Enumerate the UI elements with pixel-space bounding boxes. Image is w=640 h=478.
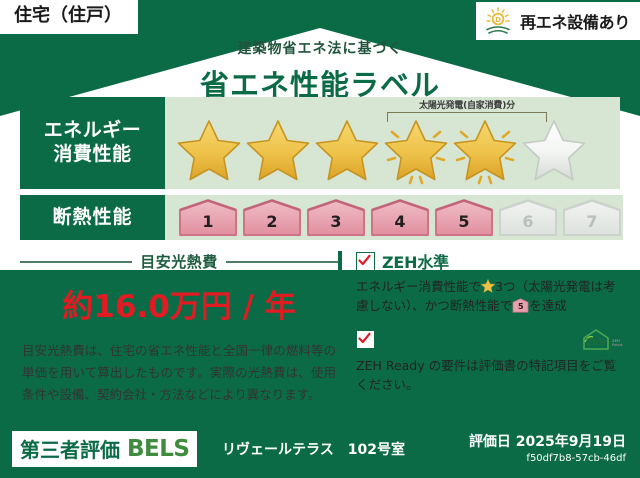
zeh-ready-logo-icon: ZEH ZEH Ready (581, 328, 623, 352)
renewable-energy-label: 再エネ設備あり (520, 9, 630, 33)
building-type-badge: 住宅（住戸） (0, 0, 138, 34)
evaluation-date: 評価日 2025年9月19日 (469, 431, 626, 451)
net-zero-energy-text: ZEH Ready の要件は評価書の特記項目をご覧ください。 (356, 356, 623, 395)
sun-icon: D (484, 7, 514, 35)
checkbox-checked-2 (356, 330, 375, 349)
star-filled (382, 116, 450, 186)
insulation-level-number: 6 (497, 212, 559, 231)
insulation-label: 断熱性能 (52, 206, 132, 230)
bels-badge: 第三者評価 BELS (12, 431, 197, 467)
energy-stars-panel: 太陽光発電(自家消費)分 (165, 97, 620, 189)
insulation-level-number: 3 (305, 212, 367, 231)
label-footer: 第三者評価 BELS リヴェールテラス 102号室 評価日 2025年9月19日… (0, 422, 640, 478)
building-type-label: 住宅（住戸） (14, 5, 122, 26)
zeh-section: ZEH水準 エネルギー消費性能で3つ（太陽光発電は考慮しない）、かつ断熱性能で5… (338, 249, 623, 424)
insulation-level-filled: 3 (305, 199, 367, 237)
insulation-level-scale: 1 2 3 (165, 195, 623, 240)
zeh-text-part-a: エネルギー消費性能で (356, 279, 481, 294)
insulation-level-filled: 1 (177, 199, 239, 237)
star-filled (244, 116, 312, 186)
heading-rule-left (20, 261, 132, 263)
energy-label-line1: エネルギー (44, 119, 142, 143)
section-divider (338, 251, 342, 411)
insulation-level-filled: 2 (241, 199, 303, 237)
insulation-levels-panel: 1 2 3 (165, 195, 623, 240)
mini-house-badge: 5 (512, 298, 529, 313)
star-filled (313, 116, 381, 186)
insulation-level-number: 1 (177, 212, 239, 231)
insulation-level-filled: 4 (369, 199, 431, 237)
label-subtitle: 建築物省エネ法に基づく (0, 38, 640, 58)
insulation-level-number: 7 (561, 212, 623, 231)
utility-cost-heading: 目安光熱費 (20, 251, 338, 272)
utility-cost-value: 約16.0万円 / 年 (20, 281, 338, 326)
energy-performance-row: エネルギー 消費性能 太陽光発電(自家消費)分 (20, 97, 620, 189)
star-filled (175, 116, 243, 186)
label-body: エネルギー 消費性能 太陽光発電(自家消費)分 (20, 97, 620, 422)
evaluation-meta: 評価日 2025年9月19日 f50df7b8-57cb-46df (469, 431, 626, 464)
check-icon-2 (358, 332, 371, 345)
net-zero-energy-title: ネット・ゼロ・エネルギー (382, 328, 572, 352)
bels-en-label: BELS (127, 436, 189, 462)
insulation-performance-label-cell: 断熱性能 (20, 195, 165, 240)
energy-performance-label-cell: エネルギー 消費性能 (20, 97, 165, 189)
label-title-block: 建築物省エネ法に基づく 省エネ性能ラベル (0, 38, 640, 104)
mini-star-icon (481, 279, 495, 293)
checkbox-checked (356, 252, 375, 271)
zeh-text-part-c: を達成 (529, 298, 567, 313)
zeh-standard-text: エネルギー消費性能で3つ（太陽光発電は考慮しない）、かつ断熱性能で5を達成 (356, 277, 623, 316)
property-name: リヴェールテラス 102号室 (222, 439, 405, 459)
svg-text:Ready: Ready (612, 343, 623, 347)
star-filled (451, 116, 519, 186)
svg-text:D: D (495, 16, 501, 24)
evaluation-id: f50df7b8-57cb-46df (469, 453, 626, 464)
star-rating (165, 97, 620, 189)
insulation-level-empty: 6 (497, 199, 559, 237)
zeh-standard-heading: ZEH水準 (356, 249, 623, 273)
heading-rule-right (226, 261, 338, 263)
net-zero-energy-item: ネット・ゼロ・エネルギー ZEH ZEH Ready ZEH Ready の要件… (356, 328, 623, 395)
energy-label-line2: 消費性能 (44, 143, 142, 167)
star-empty (520, 116, 588, 186)
utility-cost-note: 目安光熱費は、住宅の省エネ性能と全国一律の燃料等の単価を用いて算出したものです。… (20, 340, 338, 406)
bels-ja-label: 第三者評価 (20, 434, 120, 463)
insulation-level-number: 4 (369, 212, 431, 231)
utility-cost-section: 目安光熱費 約16.0万円 / 年 目安光熱費は、住宅の省エネ性能と全国一律の燃… (20, 249, 338, 424)
check-icon (358, 254, 371, 267)
utility-cost-heading-label: 目安光熱費 (140, 251, 218, 272)
insulation-level-number: 5 (433, 212, 495, 231)
insulation-performance-row: 断熱性能 1 2 (20, 195, 620, 240)
net-zero-energy-heading: ネット・ゼロ・エネルギー ZEH ZEH Ready (356, 328, 623, 352)
zeh-standard-title: ZEH水準 (382, 249, 449, 273)
insulation-level-filled: 5 (433, 199, 495, 237)
insulation-level-empty: 7 (561, 199, 623, 237)
insulation-level-number: 2 (241, 212, 303, 231)
mini-house-number: 5 (512, 301, 529, 313)
renewable-energy-badge: D 再エネ設備あり (476, 2, 640, 40)
svg-text:ZEH: ZEH (586, 338, 606, 348)
lower-sections: 目安光熱費 約16.0万円 / 年 目安光熱費は、住宅の省エネ性能と全国一律の燃… (20, 249, 620, 424)
zeh-standard-item: ZEH水準 エネルギー消費性能で3つ（太陽光発電は考慮しない）、かつ断熱性能で5… (356, 249, 623, 316)
energy-performance-label: 住宅（住戸） D 再エネ設備あり 建築物省エネ法に基づく 省エネ性能ラベル (0, 0, 640, 478)
